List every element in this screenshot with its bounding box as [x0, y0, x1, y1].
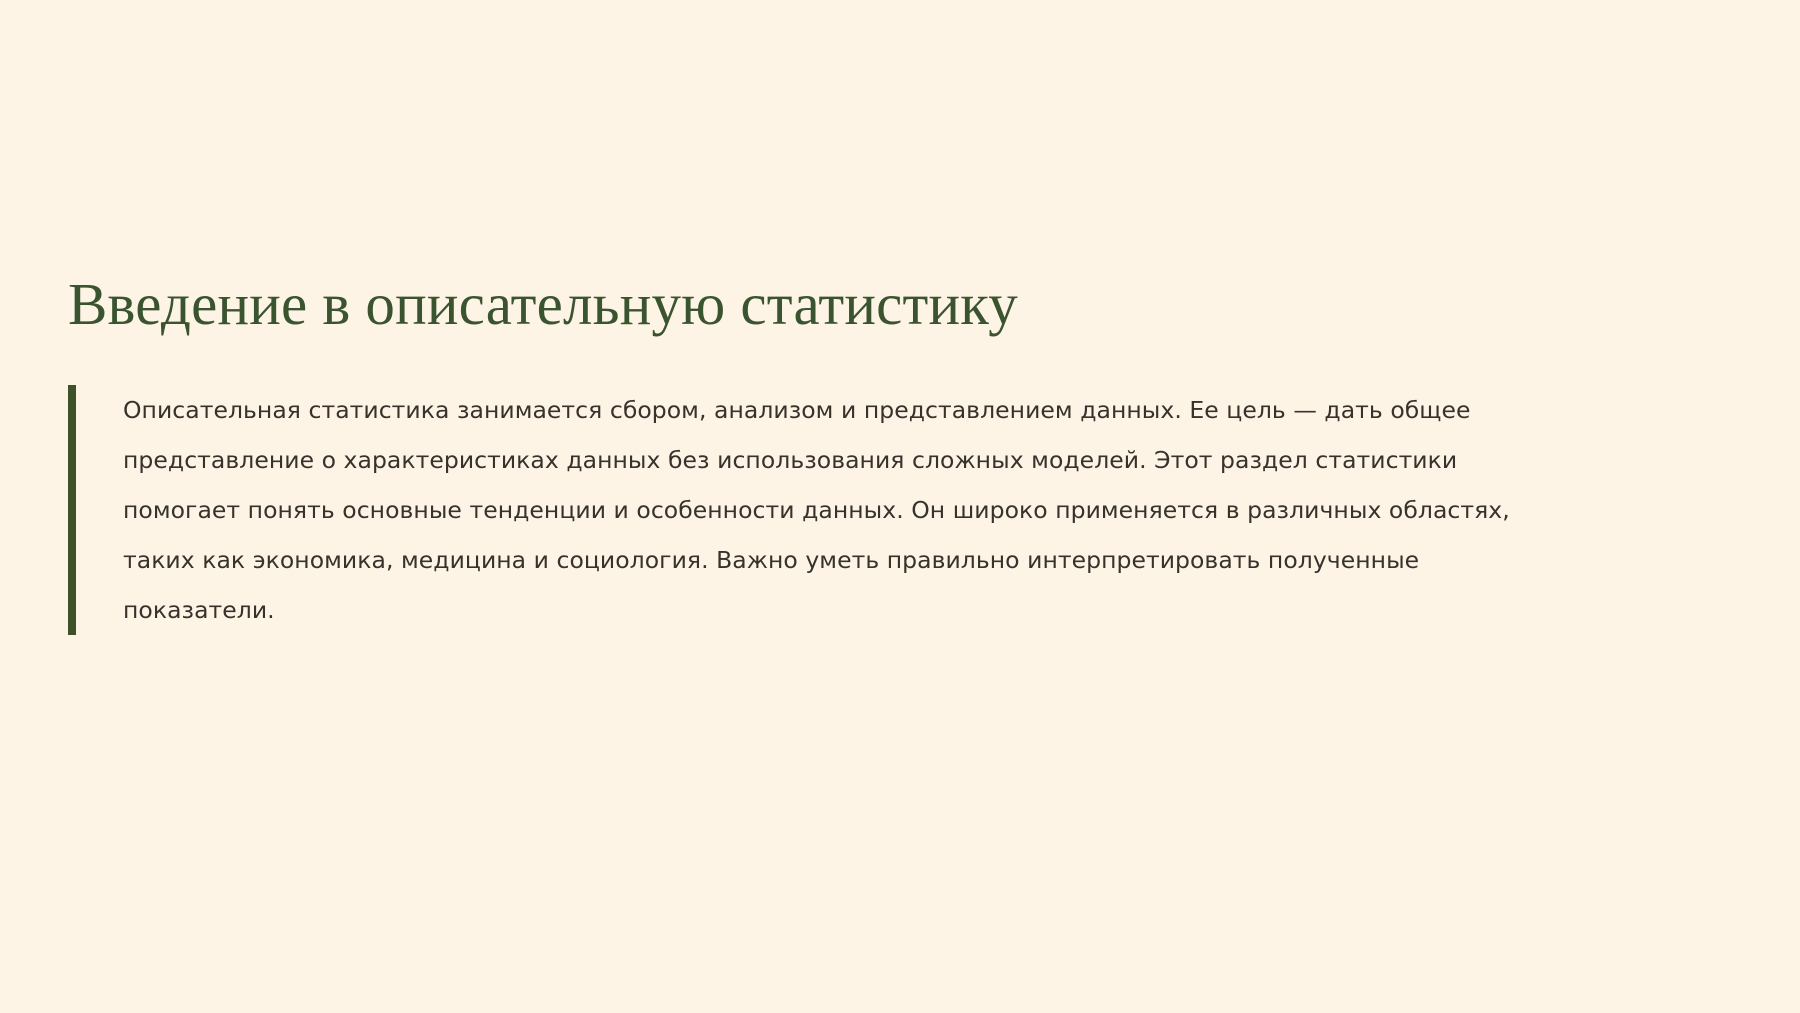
callout-block: Описательная статистика занимается сборо… [68, 385, 1728, 635]
slide-content: Введение в описательную статистику Описа… [68, 272, 1728, 635]
slide-canvas: Введение в описательную статистику Описа… [0, 0, 1800, 1013]
callout-paragraph: Описательная статистика занимается сборо… [123, 385, 1543, 635]
page-title: Введение в описательную статистику [68, 272, 1728, 337]
